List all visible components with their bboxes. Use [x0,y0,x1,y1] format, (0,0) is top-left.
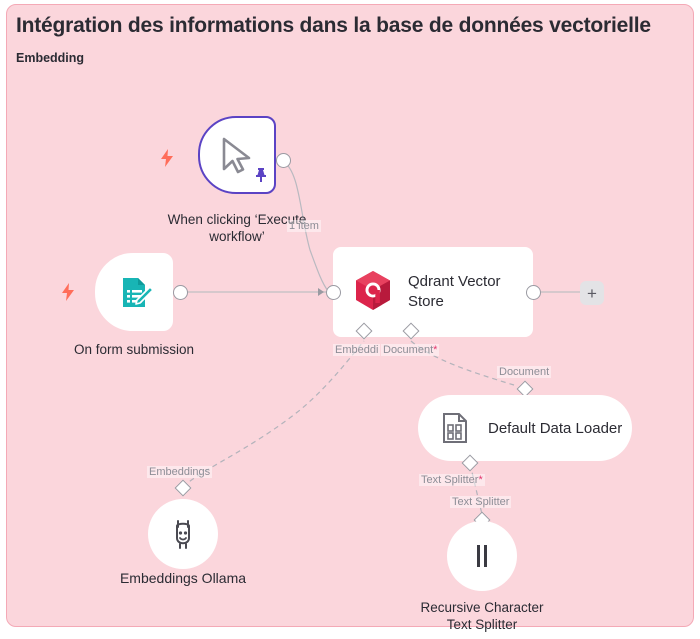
pin-icon [254,167,268,188]
qdrant-output-port[interactable] [526,285,541,300]
form-document-pencil-icon [114,273,156,315]
node-recursive-character-text-splitter[interactable] [447,521,517,591]
lightning-bolt-icon [61,283,75,301]
connection-label-text-splitter-source: Text Splitter [450,496,511,508]
text-splitter-port-text: Text Splitter [421,474,478,486]
node-label-splitter-line2: Text Splitter [392,616,572,633]
qdrant-input-port[interactable] [326,285,341,300]
workflow-canvas[interactable]: Intégration des informations dans la bas… [0,0,700,639]
connection-label-embeddings-source: Embeddings [147,466,212,478]
add-node-button[interactable]: + [580,281,604,305]
form-output-port[interactable] [173,285,188,300]
node-label-splitter: Recursive Character Text Splitter [392,599,572,633]
node-when-clicking-execute-workflow[interactable] [198,116,276,194]
sticky-subtitle: Embedding [16,51,84,65]
node-label-ollama: Embeddings Ollama [103,570,263,587]
node-label-qdrant: Qdrant Vector Store [408,272,518,312]
pause-bars-icon [470,543,494,569]
node-label-loader: Default Data Loader [488,420,622,437]
binary-document-icon [440,411,470,445]
llama-icon [168,518,198,550]
trigger-output-port[interactable] [276,153,291,168]
document-port-text: Document [383,344,433,356]
node-label-splitter-line1: Recursive Character [392,599,572,616]
connection-label-text-splitter-port: Text Splitter* [419,474,485,486]
required-asterisk: * [478,474,482,486]
connection-label-document-port: Document* [381,344,439,356]
lightning-bolt-icon [160,149,174,167]
node-default-data-loader[interactable]: Default Data Loader [418,395,632,461]
connection-label-embeddings-port: Embeddi [333,344,380,356]
qdrant-logo-icon [352,270,394,314]
connection-label-one-item: 1 item [287,220,321,232]
page-title: Intégration des informations dans la bas… [16,14,651,38]
node-embeddings-ollama[interactable] [148,499,218,569]
node-on-form-submission[interactable] [95,253,173,331]
qdrant-input-arrow-icon [318,288,324,296]
node-label-form: On form submission [54,341,214,358]
connection-label-document-source: Document [497,366,551,378]
required-asterisk: * [433,344,437,356]
